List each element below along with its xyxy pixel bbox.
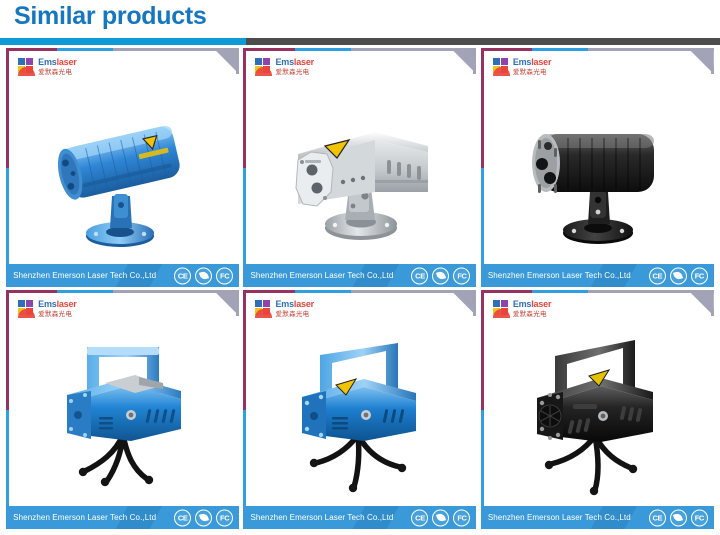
company-name: Shenzhen Emerson Laser Tech Co.,Ltd — [250, 513, 393, 522]
company-name: Shenzhen Emerson Laser Tech Co.,Ltd — [488, 271, 631, 280]
four-color-squares-logo-icon — [493, 58, 510, 76]
card-left-border-upper — [481, 48, 484, 168]
border-segment-blue — [532, 290, 588, 293]
card-left-border-upper — [243, 48, 246, 168]
logo-chinese-text: 爱默森光电 — [275, 311, 313, 318]
logo-chinese-text: 爱默森光电 — [38, 69, 76, 76]
four-color-squares-logo-icon — [493, 300, 510, 318]
rohs-badge — [432, 267, 449, 284]
logo-chinese-text: 爱默森光电 — [38, 311, 76, 318]
product-image-blue-mini-laser-tripod-angled[interactable] — [246, 320, 473, 505]
border-segment-blue — [295, 48, 351, 51]
card-top-border — [481, 48, 714, 51]
fc-badge: FC — [453, 509, 470, 526]
card-footer-bar: Shenzhen Emerson Laser Tech Co.,Ltd CE F… — [243, 506, 476, 529]
ce-badge: CE — [649, 267, 666, 284]
company-name: Shenzhen Emerson Laser Tech Co.,Ltd — [13, 271, 156, 280]
card-left-border-upper — [243, 290, 246, 410]
fc-badge: FC — [216, 267, 233, 284]
product-image-black-cylinder-laser-projector[interactable] — [484, 78, 711, 263]
card-left-border-upper — [481, 290, 484, 410]
page-header: Similar products — [0, 0, 720, 37]
brand-logo: Emslaser 爱默森光电 — [255, 58, 313, 76]
product-image-black-mini-laser-tripod[interactable] — [484, 320, 711, 505]
company-name: Shenzhen Emerson Laser Tech Co.,Ltd — [13, 513, 156, 522]
fc-badge: FC — [691, 267, 708, 284]
card-top-border — [481, 290, 714, 293]
product-card-5[interactable]: Emslaser 爱默森光电 — [243, 290, 476, 529]
logo-text: Emslaser 爱默森光电 — [513, 58, 551, 76]
logo-word-primary: Ems — [513, 57, 531, 67]
border-segment-maroon — [481, 290, 532, 293]
brand-logo: Emslaser 爱默森光电 — [255, 300, 313, 318]
rohs-badge — [670, 509, 687, 526]
border-segment-blue — [57, 48, 113, 51]
logo-word-secondary: laser — [294, 299, 314, 309]
border-segment-maroon — [6, 48, 57, 51]
divider-blue-segment — [0, 38, 246, 45]
logo-text: Emslaser 爱默森光电 — [38, 300, 76, 318]
four-color-squares-logo-icon — [255, 58, 272, 76]
card-footer-bar: Shenzhen Emerson Laser Tech Co.,Ltd CE F… — [6, 264, 239, 287]
ce-badge: CE — [411, 509, 428, 526]
certification-badges: CE FC — [174, 509, 233, 526]
rohs-badge — [195, 267, 212, 284]
product-image-blue-mini-laser-tripod-front[interactable] — [9, 320, 236, 505]
certification-badges: CE FC — [411, 267, 470, 284]
logo-chinese-text: 爱默森光电 — [513, 311, 551, 318]
brand-logo: Emslaser 爱默森光电 — [493, 58, 551, 76]
card-left-border-upper — [6, 48, 9, 168]
logo-word-secondary: laser — [531, 299, 551, 309]
header-divider-rule — [0, 38, 720, 45]
card-left-border-upper — [6, 290, 9, 410]
border-segment-blue — [57, 290, 113, 293]
logo-word-secondary: laser — [57, 299, 77, 309]
certification-badges: CE FC — [649, 267, 708, 284]
product-grid: Emslaser 爱默森光电 — [0, 48, 720, 535]
border-segment-blue — [295, 290, 351, 293]
logo-word-primary: Ems — [275, 299, 293, 309]
ce-badge: CE — [174, 509, 191, 526]
fc-badge: FC — [216, 509, 233, 526]
product-card-4[interactable]: Emslaser 爱默森光电 — [6, 290, 239, 529]
certification-badges: CE FC — [411, 509, 470, 526]
border-segment-maroon — [243, 290, 294, 293]
logo-text: Emslaser 爱默森光电 — [38, 58, 76, 76]
logo-text: Emslaser 爱默森光电 — [513, 300, 551, 318]
card-top-border — [243, 48, 476, 51]
logo-word-primary: Ems — [38, 299, 56, 309]
product-image-silver-box-laser-projector[interactable] — [246, 78, 473, 263]
logo-word-primary: Ems — [275, 57, 293, 67]
logo-word-primary: Ems — [513, 299, 531, 309]
rohs-badge — [195, 509, 212, 526]
card-footer-bar: Shenzhen Emerson Laser Tech Co.,Ltd CE F… — [481, 506, 714, 529]
border-segment-maroon — [6, 290, 57, 293]
ce-badge: CE — [174, 267, 191, 284]
border-segment-blue — [532, 48, 588, 51]
product-card-6[interactable]: Emslaser 爱默森光电 — [481, 290, 714, 529]
ce-badge: CE — [411, 267, 428, 284]
border-segment-maroon — [243, 48, 294, 51]
logo-text: Emslaser 爱默森光电 — [275, 300, 313, 318]
logo-word-secondary: laser — [294, 57, 314, 67]
product-card-1[interactable]: Emslaser 爱默森光电 — [6, 48, 239, 287]
card-top-border — [243, 290, 476, 293]
brand-logo: Emslaser 爱默森光电 — [18, 58, 76, 76]
four-color-squares-logo-icon — [18, 300, 35, 318]
similar-products-page: Similar products — [0, 0, 720, 535]
page-title: Similar products — [14, 2, 206, 31]
card-top-border — [6, 48, 239, 51]
logo-chinese-text: 爱默森光电 — [275, 69, 313, 76]
brand-logo: Emslaser 爱默森光电 — [493, 300, 551, 318]
card-footer-bar: Shenzhen Emerson Laser Tech Co.,Ltd CE F… — [243, 264, 476, 287]
four-color-squares-logo-icon — [18, 58, 35, 76]
border-segment-maroon — [481, 48, 532, 51]
logo-word-secondary: laser — [531, 57, 551, 67]
fc-badge: FC — [691, 509, 708, 526]
certification-badges: CE FC — [174, 267, 233, 284]
logo-chinese-text: 爱默森光电 — [513, 69, 551, 76]
product-image-blue-cylinder-laser-projector[interactable] — [9, 78, 236, 263]
company-name: Shenzhen Emerson Laser Tech Co.,Ltd — [250, 271, 393, 280]
logo-text: Emslaser 爱默森光电 — [275, 58, 313, 76]
certification-badges: CE FC — [649, 509, 708, 526]
logo-word-secondary: laser — [57, 57, 77, 67]
rohs-badge — [670, 267, 687, 284]
brand-logo: Emslaser 爱默森光电 — [18, 300, 76, 318]
product-card-2[interactable]: Emslaser 爱默森光电 — [243, 48, 476, 287]
logo-word-primary: Ems — [38, 57, 56, 67]
product-card-3[interactable]: Emslaser 爱默森光电 — [481, 48, 714, 287]
rohs-badge — [432, 509, 449, 526]
divider-dark-segment — [246, 38, 720, 45]
four-color-squares-logo-icon — [255, 300, 272, 318]
company-name: Shenzhen Emerson Laser Tech Co.,Ltd — [488, 513, 631, 522]
ce-badge: CE — [649, 509, 666, 526]
card-top-border — [6, 290, 239, 293]
fc-badge: FC — [453, 267, 470, 284]
card-footer-bar: Shenzhen Emerson Laser Tech Co.,Ltd CE F… — [481, 264, 714, 287]
card-footer-bar: Shenzhen Emerson Laser Tech Co.,Ltd CE F… — [6, 506, 239, 529]
